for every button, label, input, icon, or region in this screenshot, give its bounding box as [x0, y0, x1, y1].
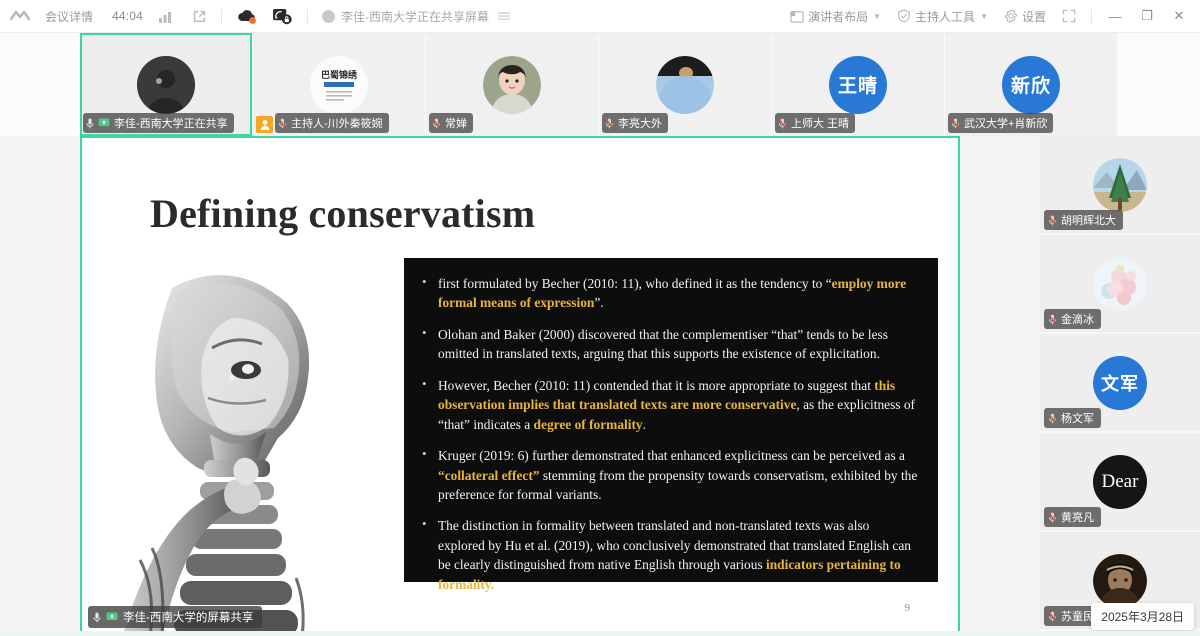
avatar-initials-5: 新欣 [1011, 71, 1051, 98]
participant-sidebar: 胡明辉北大 [1040, 136, 1200, 636]
mic-muted-icon [778, 118, 787, 129]
fullscreen-button[interactable] [1055, 6, 1083, 26]
thumbnail-name-badge-3: 李亮大外 [602, 113, 668, 133]
thumbnail-name-2: 常婵 [445, 115, 467, 131]
sidebar-participant-0[interactable]: 胡明辉北大 [1040, 136, 1200, 235]
avatar-initials-s2: 文军 [1101, 370, 1139, 396]
avatar [483, 56, 541, 114]
settings-label: 设置 [1022, 8, 1046, 25]
avatar: 王晴 [829, 56, 887, 114]
thumbnail-4[interactable]: 王晴 上师大 王晴 [772, 33, 945, 136]
encryption-lock-icon[interactable] [272, 8, 293, 25]
thumbnail-name-4: 上师大 王晴 [791, 115, 849, 131]
participant-thumbnail-strip: 李佳-西南大学正在共享 巴蜀锦绣 [0, 33, 1200, 136]
thumbnail-2[interactable]: 常婵 [426, 33, 599, 136]
sharing-status-indicator[interactable]: 李佳-西南大学正在共享屏幕 [322, 8, 510, 25]
more-options-icon[interactable] [498, 11, 510, 21]
sidebar-name-badge-2: 杨文军 [1044, 408, 1101, 428]
host-tools-button[interactable]: 主持人工具 ▼ [890, 5, 995, 28]
avatar: 文军 [1093, 356, 1147, 410]
close-button[interactable]: ✕ [1164, 3, 1194, 29]
mic-muted-icon [278, 118, 287, 129]
slide-bullet-3: Kruger (2019: 6) further demonstrated th… [418, 446, 918, 504]
avatar [656, 56, 714, 114]
avatar [1093, 554, 1147, 608]
thumbnail-0[interactable]: 李佳-西南大学正在共享 [80, 33, 253, 136]
thumbnail-name-badge-0: 李佳-西南大学正在共享 [83, 113, 234, 133]
slide-bullet-2-run-4: . [643, 417, 646, 432]
mic-muted-icon [1048, 611, 1057, 622]
slide-bullet-2-run-0: However, Becher (2010: 11) contended tha… [438, 378, 874, 393]
avatar: 巴蜀锦绣 [310, 56, 368, 114]
thumbnail-name-badge-1: 主持人-川外秦筱婉 [275, 113, 389, 133]
speaker-layout-button[interactable]: 演讲者布局 ▼ [783, 5, 888, 28]
thumbnail-5[interactable]: 新欣 武汉大学+肖新欣 [945, 33, 1118, 136]
robot-thinking-image [82, 248, 402, 636]
minimize-button[interactable]: — [1100, 3, 1130, 29]
maximize-label: ❐ [1141, 8, 1153, 24]
gear-icon [1004, 9, 1018, 23]
host-flag-icon [256, 116, 273, 133]
toolbar-divider-3 [1091, 9, 1092, 24]
signal-bars-icon[interactable] [159, 10, 174, 23]
zoom-logo-icon [10, 9, 30, 23]
avatar [137, 56, 195, 114]
window-toolbar: 会议详情 44:04 [0, 0, 1200, 33]
thumbnail-name-badge-2: 常婵 [429, 113, 473, 133]
external-link-icon[interactable] [192, 9, 207, 24]
screen-share-icon [106, 612, 118, 622]
meeting-info-label: 会议详情 [45, 8, 93, 25]
slide-bullet-3-run-0: Kruger (2019: 6) further demonstrated th… [438, 448, 905, 463]
sharing-user-avatar [322, 10, 335, 23]
slide-bullet-3-run-1: “collateral effect” [438, 468, 539, 483]
toolbar-left-group: 会议详情 44:04 [0, 5, 510, 28]
avatar: Dear [1093, 455, 1147, 509]
mic-muted-icon [605, 118, 614, 129]
date-tooltip: 2025年3月28日 [1091, 603, 1194, 630]
toolbar-divider-2 [307, 9, 308, 24]
thumbnail-name-badge-4: 上师大 王晴 [775, 113, 855, 133]
cloud-recording-icon[interactable] [236, 8, 258, 25]
mic-muted-icon [1048, 512, 1057, 523]
slide-title: Defining conservatism [150, 190, 535, 237]
slide-bullet-2-run-3: degree of formality [534, 417, 643, 432]
sidebar-participant-3[interactable]: Dear 黄亮凡 [1040, 433, 1200, 532]
mic-muted-icon [951, 118, 960, 129]
mic-muted-icon [1048, 314, 1057, 325]
fullscreen-icon [1062, 9, 1076, 23]
mic-muted-icon [432, 118, 441, 129]
avatar-initials-s3: Dear [1102, 471, 1139, 493]
sidebar-name-2: 杨文军 [1061, 410, 1094, 426]
slide-bullet-1-run-0: Olohan and Baker (2000) discovered that … [438, 327, 888, 361]
thumbnail-1[interactable]: 巴蜀锦绣 主持人-川外秦筱婉 [253, 33, 426, 136]
slide-bullet-list: first formulated by Becher (2010: 11), w… [418, 274, 918, 594]
mic-muted-icon [1048, 413, 1057, 424]
presentation-slide: Defining conservatism [82, 138, 958, 634]
settings-button[interactable]: 设置 [997, 5, 1053, 28]
thumbnail-name-5: 武汉大学+肖新欣 [964, 115, 1047, 131]
toolbar-divider [221, 9, 222, 24]
bottom-edge-strip [0, 631, 1200, 636]
shared-screen-stage[interactable]: Defining conservatism [80, 136, 960, 636]
chevron-down-icon-2: ▼ [980, 12, 988, 21]
slide-bullet-4: The distinction in formality between tra… [418, 516, 918, 594]
thumbnail-name-3: 李亮大外 [618, 115, 662, 131]
toolbar-right-group: 演讲者布局 ▼ 主持人工具 ▼ [783, 3, 1200, 29]
mic-muted-icon [1048, 215, 1057, 226]
mic-icon [93, 612, 101, 623]
stage-share-badge: 李佳-西南大学的屏幕共享 [88, 606, 262, 628]
sidebar-name-badge-1: 金滴冰 [1044, 309, 1101, 329]
host-tools-label: 主持人工具 [915, 8, 975, 25]
meeting-timer: 44:04 [108, 9, 147, 23]
avatar [1093, 257, 1147, 311]
sidebar-participant-1[interactable]: 金滴冰 [1040, 235, 1200, 334]
sidebar-name-badge-3: 黄亮凡 [1044, 507, 1101, 527]
thumbnail-name-1: 主持人-川外秦筱婉 [291, 115, 383, 131]
strip-left-spacer [0, 33, 80, 136]
svg-text:巴蜀锦绣: 巴蜀锦绣 [321, 69, 358, 81]
sidebar-name-1: 金滴冰 [1061, 311, 1094, 327]
sidebar-name-3: 黄亮凡 [1061, 509, 1094, 525]
zoom-meeting-window: 会议详情 44:04 [0, 0, 1200, 636]
thumbnail-3[interactable]: 李亮大外 [599, 33, 772, 136]
shield-icon [897, 9, 911, 23]
slide-text-panel: first formulated by Becher (2010: 11), w… [404, 258, 938, 582]
slide-bullet-0: first formulated by Becher (2010: 11), w… [418, 274, 918, 313]
close-label: ✕ [1174, 8, 1185, 24]
slide-page-number: 9 [905, 602, 911, 614]
avatar: 新欣 [1002, 56, 1060, 114]
speaker-layout-label: 演讲者布局 [808, 8, 868, 25]
sidebar-participant-2[interactable]: 文军 杨文军 [1040, 334, 1200, 433]
stage-share-label: 李佳-西南大学的屏幕共享 [123, 609, 253, 625]
sidebar-name-badge-0: 胡明辉北大 [1044, 210, 1123, 230]
minimize-label: — [1109, 9, 1122, 24]
layout-icon [790, 10, 804, 23]
thumbnail-name-badge-5: 武汉大学+肖新欣 [948, 113, 1053, 133]
slide-bullet-1: Olohan and Baker (2000) discovered that … [418, 325, 918, 364]
thumbnail-name-0: 李佳-西南大学正在共享 [114, 115, 228, 131]
slide-bullet-0-run-0: first formulated by Becher (2010: 11), w… [438, 276, 832, 291]
avatar [1093, 158, 1147, 212]
slide-bullet-2: However, Becher (2010: 11) contended tha… [418, 376, 918, 434]
slide-bullet-0-run-2: ”. [594, 295, 603, 310]
meeting-info-button[interactable]: 会议详情 [38, 5, 100, 28]
maximize-button[interactable]: ❐ [1132, 3, 1162, 29]
avatar-initials-4: 王晴 [838, 71, 878, 98]
sidebar-name-0: 胡明辉北大 [1061, 212, 1116, 228]
chevron-down-icon: ▼ [873, 12, 881, 21]
mic-icon [86, 118, 94, 129]
screen-share-icon [98, 118, 110, 128]
sharing-status-label: 李佳-西南大学正在共享屏幕 [341, 8, 489, 25]
